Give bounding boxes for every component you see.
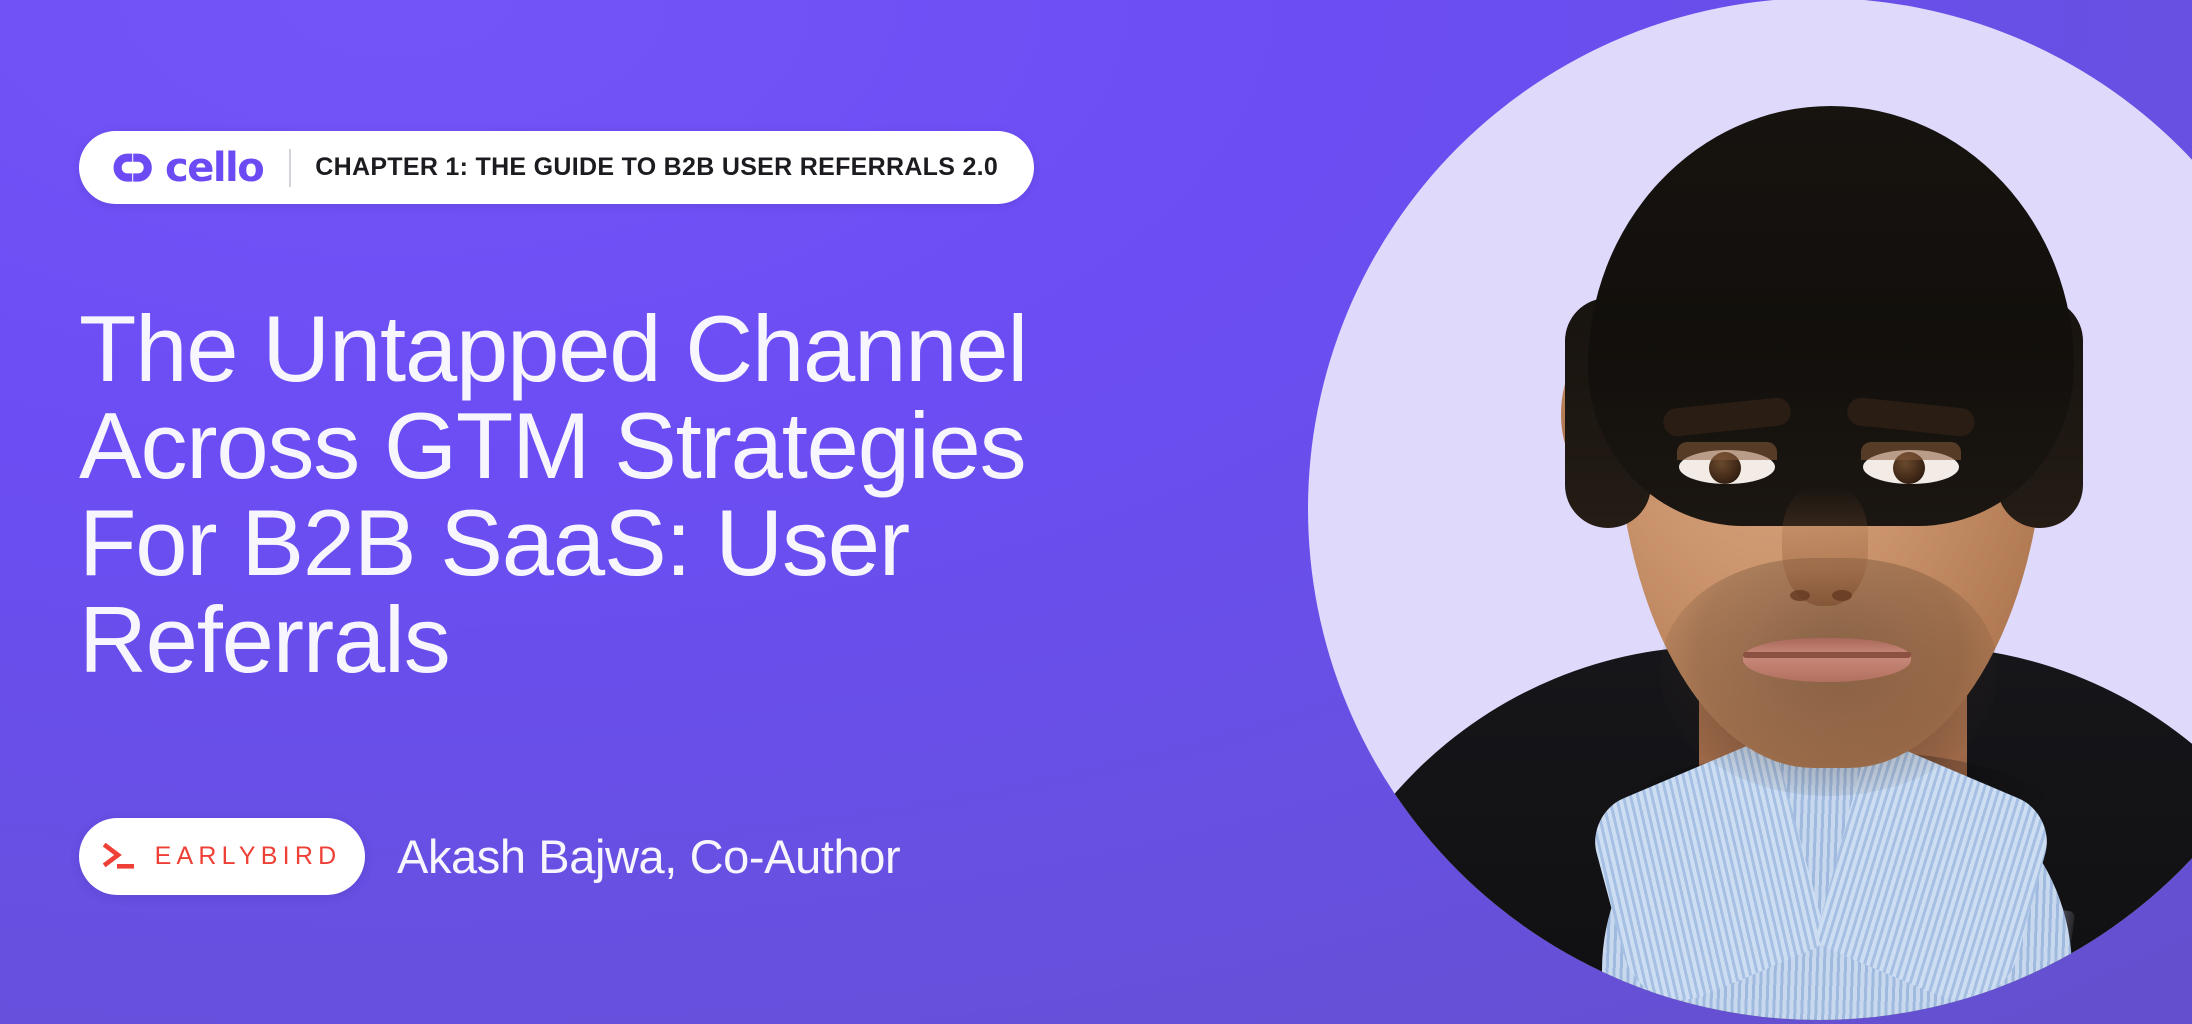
- eyelid-left-shape: [1677, 442, 1777, 460]
- headline-line-1: The Untapped Channel: [79, 300, 1239, 397]
- nostril-left-shape: [1790, 590, 1810, 601]
- avatar: [1308, 0, 2192, 1020]
- earlybird-label: EARLYBIRD: [155, 842, 342, 871]
- chapter-badge[interactable]: cello CHAPTER 1: THE GUIDE TO B2B USER R…: [79, 131, 1034, 204]
- earlybird-badge[interactable]: EARLYBIRD: [79, 818, 365, 895]
- headline-line-2: Across GTM Strategies: [79, 397, 1239, 494]
- portrait-circle-backdrop: [1308, 0, 2192, 1020]
- page-title: The Untapped Channel Across GTM Strategi…: [79, 300, 1239, 688]
- banner-content: cello CHAPTER 1: THE GUIDE TO B2B USER R…: [0, 0, 1330, 1024]
- author-name: Akash Bajwa, Co-Author: [397, 829, 900, 884]
- nose-shape: [1782, 486, 1868, 606]
- author-row: EARLYBIRD Akash Bajwa, Co-Author: [79, 818, 900, 895]
- eyelid-right-shape: [1861, 442, 1961, 460]
- terminal-prompt-icon: [103, 842, 137, 872]
- chapter-cover-banner: cello CHAPTER 1: THE GUIDE TO B2B USER R…: [0, 0, 2192, 1024]
- cello-wordmark: cello: [165, 148, 263, 188]
- vertical-divider: [289, 149, 291, 187]
- mouth-line-shape: [1743, 652, 1911, 658]
- hair-shape: [1588, 106, 2074, 526]
- mouth-shape: [1743, 638, 1911, 682]
- nostril-right-shape: [1832, 590, 1852, 601]
- headline-line-3: For B2B SaaS: User: [79, 494, 1239, 591]
- cello-logo[interactable]: cello: [113, 148, 263, 188]
- headline-line-4: Referrals: [79, 591, 1239, 688]
- cello-link-icon: [113, 153, 153, 183]
- chapter-label: CHAPTER 1: THE GUIDE TO B2B USER REFERRA…: [315, 153, 998, 182]
